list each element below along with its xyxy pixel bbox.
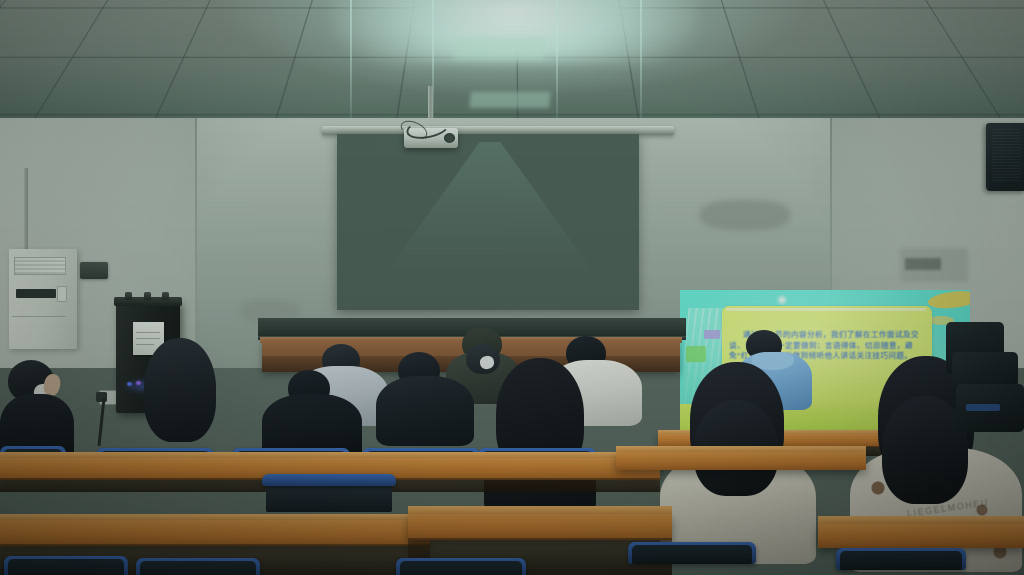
power-cord: [97, 398, 105, 446]
rack-knob-icon[interactable]: [125, 292, 132, 300]
student-desk-row: [616, 452, 866, 470]
speaker-grill: [992, 129, 1021, 181]
ceiling-beam: [556, 0, 558, 132]
ac-vent-grill: [14, 257, 66, 275]
ceiling: [0, 0, 1024, 132]
hair: [144, 338, 216, 442]
projector-lens-icon: [444, 133, 455, 143]
chair-back-pad: [140, 561, 256, 575]
projector-mount-pole: [428, 86, 433, 118]
wall-repair-patch: [905, 258, 941, 270]
wall-control-box: [80, 262, 108, 279]
student-desk-row: [818, 524, 1024, 548]
slide-badge-green: [686, 346, 706, 362]
chair-back-pad: [632, 545, 752, 564]
rack-knob-icon[interactable]: [162, 292, 169, 300]
slide-badge-purple: [704, 330, 720, 339]
cloud-decoration-icon: [927, 290, 970, 311]
rack-knob-icon[interactable]: [144, 292, 151, 300]
chair-back-pad: [400, 561, 522, 575]
rack-status-led: [127, 382, 132, 386]
wall-stain: [700, 200, 790, 230]
student-chair: [628, 542, 756, 564]
notice-text-line: [136, 344, 154, 345]
wall-conduit-pipe: [24, 168, 28, 250]
speaker-icon: [986, 123, 1024, 191]
ceiling-beam: [640, 0, 642, 132]
student-chair: [4, 556, 128, 575]
ac-seam-line: [12, 316, 66, 317]
notice-text-line: [136, 338, 160, 339]
projection-screen: 通过上一节的内容分析，我们了解在工作面试及交谈、谈话时，一定要做到：言语得体、切…: [337, 134, 639, 310]
ceiling-light-panel: [453, 38, 546, 60]
chair-back-pad: [840, 551, 962, 570]
notice-text-line: [136, 332, 160, 333]
ac-control-knob[interactable]: [57, 286, 67, 302]
student-chair: [836, 548, 966, 570]
slide-card-top-rule: [726, 308, 926, 311]
student-chair: [136, 558, 260, 575]
rack-status-led: [136, 381, 141, 385]
student-desk-row: [408, 514, 672, 540]
stacked-chair-seat: [966, 404, 1000, 411]
chair-back-rail: [262, 474, 396, 486]
torso: [376, 376, 474, 446]
ac-display-panel: [16, 289, 56, 298]
wall-corner-seam: [195, 118, 197, 368]
classroom-photo: 通过上一节的内容分析，我们了解在工作面试及交谈、谈话时，一定要做到：言语得体、切…: [0, 0, 1024, 575]
ceiling-light-panel: [469, 92, 550, 108]
sparkle-icon: [776, 294, 788, 306]
chair-back-pad: [8, 559, 124, 575]
ceiling-beam: [350, 0, 352, 132]
student-desk-row: [0, 520, 430, 546]
student-chair: [396, 558, 526, 575]
